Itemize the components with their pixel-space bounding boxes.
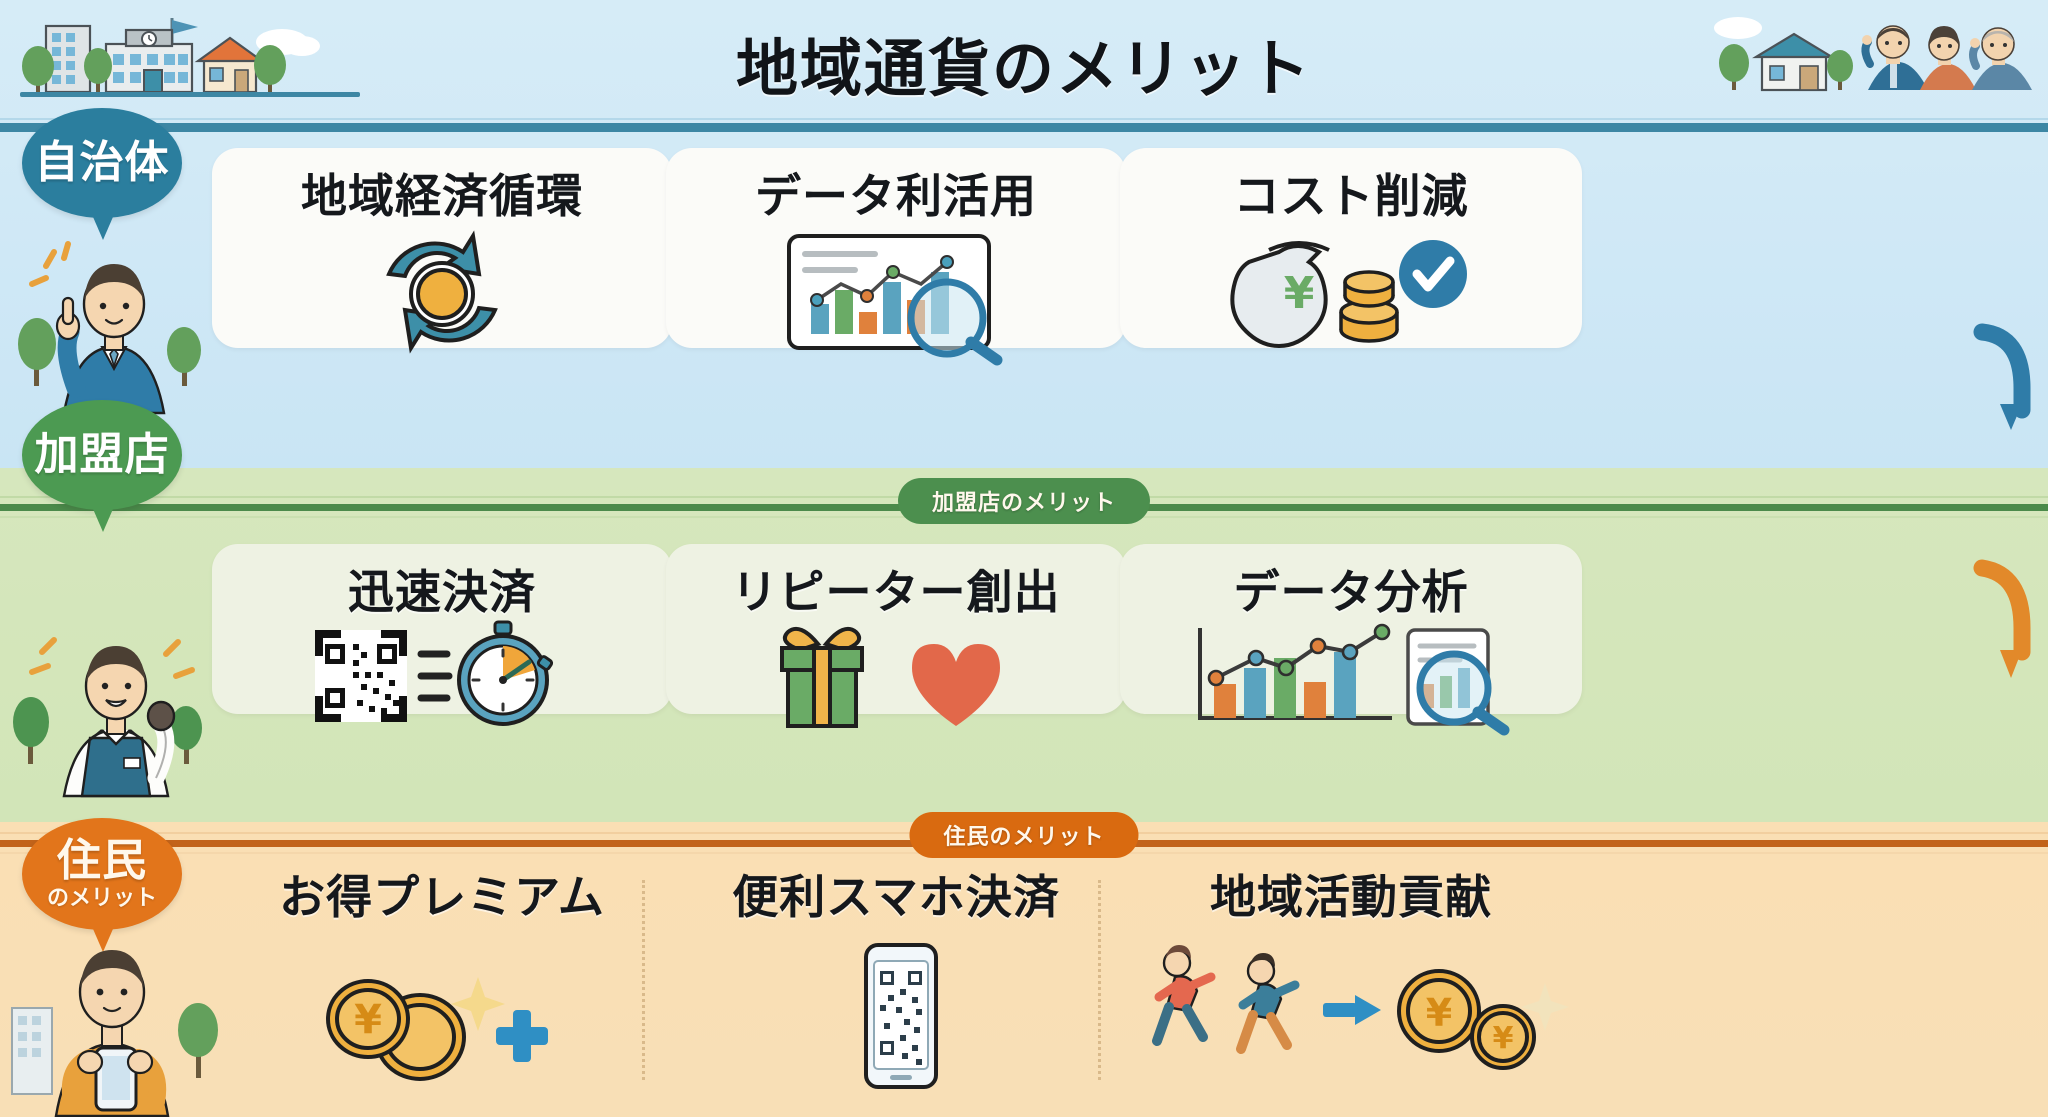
card-title: データ利活用 (755, 160, 1037, 226)
card-resident-2[interactable]: 便利スマホ決済 (666, 855, 1126, 1105)
role-badge-resident-sublabel: のメリット (47, 887, 157, 910)
card-merchant-2[interactable]: リピーター創出 (666, 544, 1126, 714)
role-badge-municipality[interactable]: 自治体 (22, 108, 182, 218)
role-badge-merchant[interactable]: 加盟店 (22, 400, 182, 510)
merchant-merit-pill: 加盟店のメリット (898, 478, 1150, 524)
card-resident-1[interactable]: お得プレミアム ¥ (212, 855, 672, 1105)
card-title: お得プレミアム (279, 861, 605, 927)
card-title: 迅速決済 (348, 556, 536, 622)
role-badge-municipality-label: 自治体 (35, 140, 170, 186)
card-title: 便利スマホ決済 (732, 861, 1060, 927)
card-merchant-1[interactable]: 迅速決済 (212, 544, 672, 714)
town-buildings-illustration (20, 8, 360, 120)
smartphone-qr-icon (666, 927, 1126, 1105)
svg-text:¥: ¥ (1493, 1021, 1514, 1056)
resident-smartphone-illustration (10, 930, 230, 1116)
card-merchant-3[interactable]: データ分析 (1120, 544, 1582, 714)
svg-text:¥: ¥ (1284, 268, 1315, 319)
card-resident-3[interactable]: 地域活動貢献 (1120, 855, 1582, 1105)
coins-plus-icon: ¥ (212, 927, 672, 1105)
card-municipality-3[interactable]: コスト削減 ¥ (1120, 148, 1582, 348)
svg-text:¥: ¥ (1426, 991, 1452, 1035)
card-municipality-2[interactable]: データ利活用 (666, 148, 1126, 348)
qr-stopwatch-icon (212, 622, 672, 732)
card-title: リピーター創出 (732, 556, 1061, 622)
data-chart-magnifier-icon (666, 226, 1126, 361)
flow-arrow-down-icon (1972, 324, 2042, 444)
role-badge-resident-label: 住民 (57, 838, 147, 884)
card-title: 地域経済循環 (301, 160, 583, 226)
municipality-divider-rule (0, 123, 2048, 132)
circular-economy-icon (212, 226, 672, 361)
flow-arrow-down-icon-2 (1972, 560, 2042, 690)
bar-chart-magnifier-icon (1120, 622, 1582, 732)
card-title: データ分析 (1234, 556, 1469, 622)
role-badge-merchant-label: 加盟店 (35, 432, 170, 478)
card-title: 地域活動貢献 (1210, 861, 1492, 927)
resident-merit-pill: 住民のメリット (909, 812, 1138, 858)
community-people-illustration (1708, 6, 2038, 118)
shop-staff-illustration (16, 618, 216, 798)
card-title: コスト削減 (1234, 160, 1469, 226)
runners-coins-icon: ¥ ¥ (1120, 927, 1582, 1105)
money-bag-coins-check-icon: ¥ (1120, 226, 1582, 361)
role-badge-resident[interactable]: 住民 のメリット (22, 818, 182, 930)
card-municipality-1[interactable]: 地域経済循環 (212, 148, 672, 348)
gift-heart-icon (666, 622, 1126, 732)
municipal-officer-illustration (20, 238, 210, 418)
svg-text:¥: ¥ (354, 997, 382, 1043)
infographic-canvas: 地域通貨のメリット (0, 0, 2048, 1117)
